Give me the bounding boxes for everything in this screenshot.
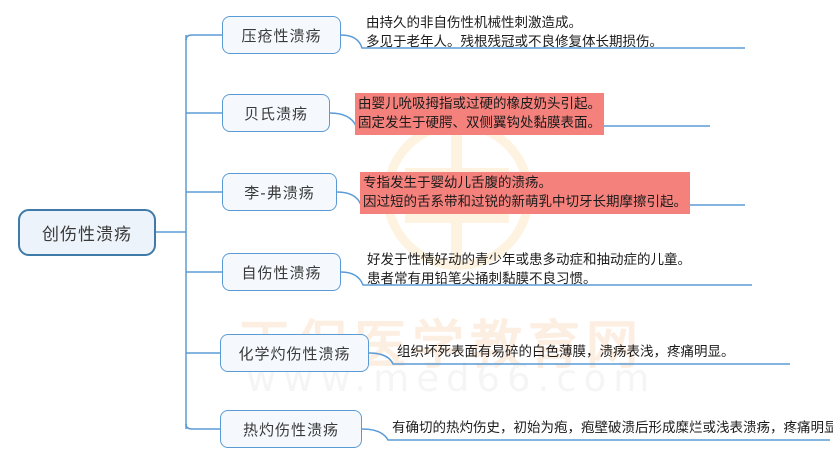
root-node[interactable]: 创伤性溃疡	[18, 209, 156, 256]
branch-description-6: 有确切的热灼伤史，初始为疱，疱壁破溃后形成糜烂或浅表溃疡，疼痛明显。	[392, 419, 833, 438]
branch-description-3-line-2: 因过短的舌系带和过锐的新萌乳中切牙长期摩擦引起。	[363, 193, 687, 212]
branch-description-4: 好发于性情好动的青少年或患多动症和抽动症的儿童。 患者常有用铅笔尖捅刺黏膜不良习…	[367, 251, 691, 289]
branch-node-2[interactable]: 贝氏溃疡	[222, 94, 330, 132]
branch-node-4-label: 自伤性溃疡	[241, 262, 321, 283]
branch-node-5[interactable]: 化学灼伤性溃疡	[220, 334, 369, 372]
root-node-label: 创伤性溃疡	[42, 220, 132, 245]
branch-node-6-label: 热灼伤性溃疡	[243, 419, 339, 440]
branch-description-2: 由婴儿吮吸拇指或过硬的橡皮奶头引起。 固定发生于硬腭、双侧翼钩处黏膜表面。	[355, 93, 604, 135]
branch-node-1[interactable]: 压疮性溃疡	[222, 16, 341, 54]
branch-node-5-label: 化学灼伤性溃疡	[238, 343, 350, 364]
branch-node-6[interactable]: 热灼伤性溃疡	[220, 410, 362, 448]
branch-description-3-line-1: 专指发生于婴幼儿舌腹的溃疡。	[363, 174, 687, 193]
branch-description-1-line-1: 由持久的非自伤性机械性刺激造成。	[366, 14, 663, 33]
branch-description-5-line-1: 组织坏死表面有易碎的白色薄膜，溃疡表浅，疼痛明显。	[397, 343, 735, 362]
branch-node-3[interactable]: 李-弗溃疡	[222, 173, 337, 211]
branch-node-2-label: 贝氏溃疡	[244, 103, 308, 124]
branch-description-6-line-1: 有确切的热灼伤史，初始为疱，疱壁破溃后形成糜烂或浅表溃疡，疼痛明显。	[392, 419, 833, 438]
branch-description-4-line-2: 患者常有用铅笔尖捅刺黏膜不良习惯。	[367, 270, 691, 289]
branch-connector-6	[186, 424, 220, 429]
branch-description-4-line-1: 好发于性情好动的青少年或患多动症和抽动症的儿童。	[367, 251, 691, 270]
branch-node-3-label: 李-弗溃疡	[244, 182, 314, 203]
mindmap-canvas: 正保医学教育网 www.med66.com	[0, 0, 833, 467]
branch-description-2-line-2: 固定发生于硬腭、双侧翼钩处黏膜表面。	[358, 114, 601, 133]
branch-description-5: 组织坏死表面有易碎的白色薄膜，溃疡表浅，疼痛明显。	[397, 343, 735, 362]
branch-node-1-label: 压疮性溃疡	[241, 25, 321, 46]
branch-connector-1	[186, 35, 222, 40]
branch-description-2-line-1: 由婴儿吮吸拇指或过硬的橡皮奶头引起。	[358, 95, 601, 114]
branch-node-4[interactable]: 自伤性溃疡	[222, 253, 341, 291]
branch-description-3: 专指发生于婴幼儿舌腹的溃疡。 因过短的舌系带和过锐的新萌乳中切牙长期摩擦引起。	[360, 172, 690, 214]
branch-description-1-line-2: 多见于老年人。残根残冠或不良修复体长期损伤。	[366, 33, 663, 52]
branch-description-1: 由持久的非自伤性机械性刺激造成。 多见于老年人。残根残冠或不良修复体长期损伤。	[366, 14, 663, 52]
